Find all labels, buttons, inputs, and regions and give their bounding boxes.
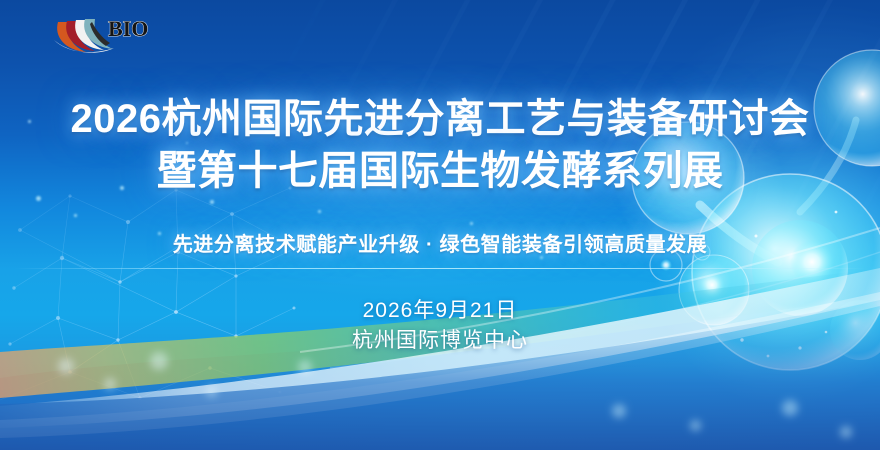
bio-logo-text: BIO (108, 16, 148, 41)
molecule-bubbles-decor (0, 0, 880, 450)
event-date: 2026年9月21日 (0, 296, 880, 326)
diagonal-streaks-decor (0, 0, 880, 450)
bokeh-particles-decor (0, 0, 880, 450)
center-glow-decor (0, 0, 880, 450)
light-wave-ribbon-decor (0, 0, 880, 450)
bio-logo-icon: BIO (52, 10, 162, 58)
page-title: 2026杭州国际先进分离工艺与装备研讨会 暨第十七届国际生物发酵系列展 (0, 96, 880, 195)
subtitle-slogan: 先进分离技术赋能产业升级 · 绿色智能装备引领高质量发展 (0, 228, 880, 257)
divider-line (14, 268, 866, 269)
event-banner: BIO 2026杭州国际先进分离工艺与装备研讨会 暨第十七届国际生物发酵系列展 … (0, 0, 880, 450)
event-meta: 2026年9月21日 杭州国际博览中心 (0, 296, 880, 357)
title-line-2: 暨第十七届国际生物发酵系列展 (0, 148, 880, 194)
title-line-1: 2026杭州国际先进分离工艺与装备研讨会 (0, 96, 880, 142)
event-venue: 杭州国际博览中心 (0, 326, 880, 356)
molecule-glow-decor (0, 0, 880, 450)
network-constellation-decor (0, 0, 880, 450)
bio-logo[interactable]: BIO (52, 10, 162, 58)
